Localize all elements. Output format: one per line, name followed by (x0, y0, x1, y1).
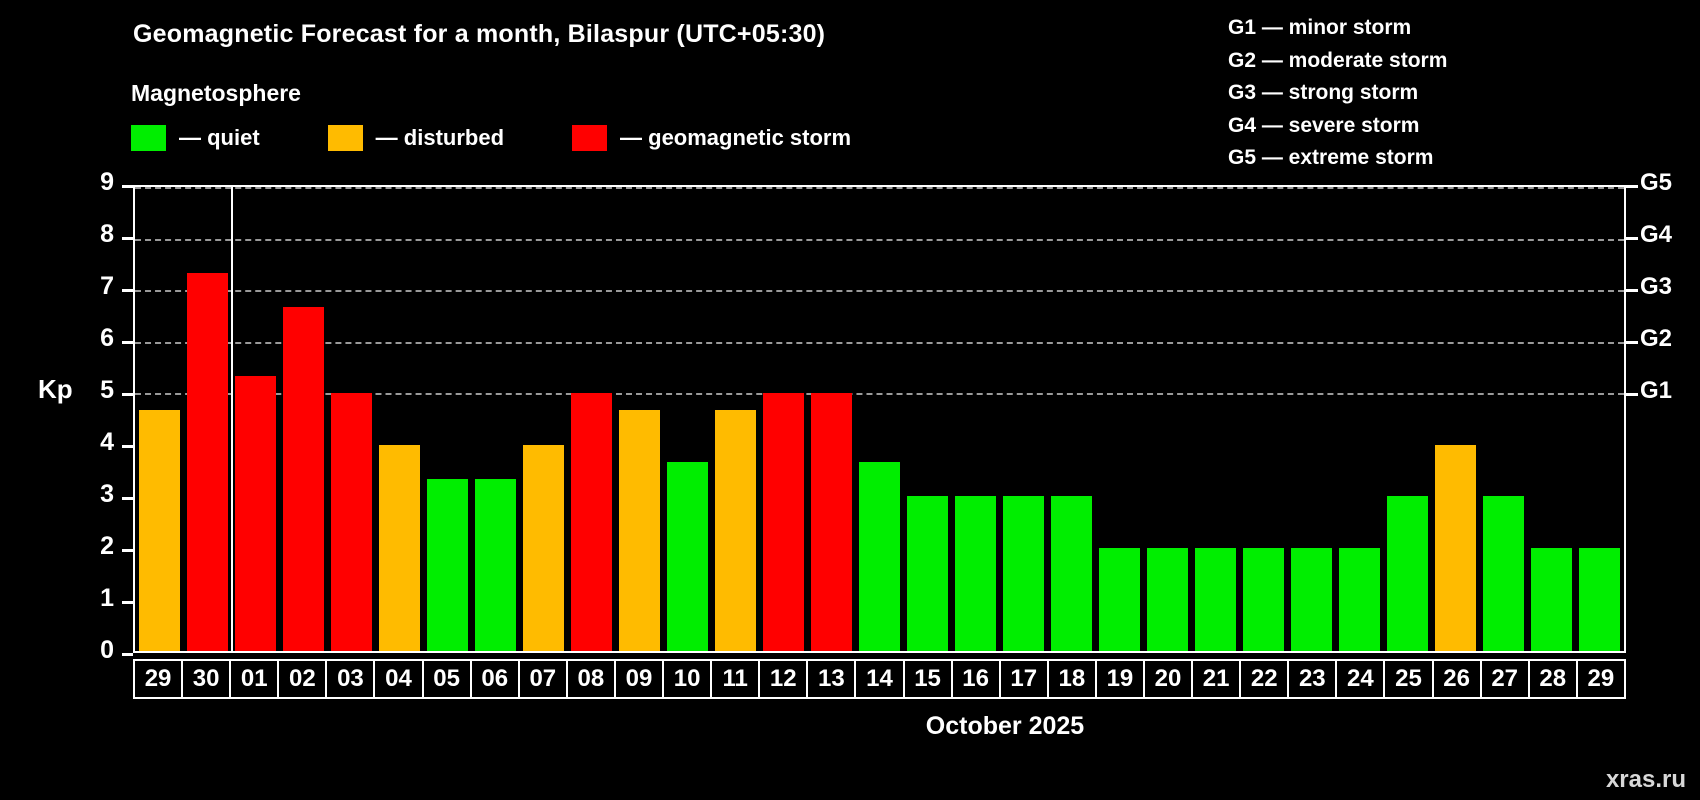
bar-cell (1432, 187, 1480, 651)
x-tick-label-03: 03 (325, 659, 375, 699)
x-tick-label-21: 21 (1191, 659, 1241, 699)
storm-scale-g2: G2 — moderate storm (1228, 45, 1447, 78)
bar-cell (231, 187, 279, 651)
bar-22 (1243, 548, 1284, 651)
bar-20 (1147, 548, 1188, 651)
bar-cell (567, 187, 615, 651)
bar-cell (759, 187, 807, 651)
bar-03 (331, 393, 372, 651)
y-tick-label-5: 5 (72, 376, 114, 405)
storm-scale-g5: G5 — extreme storm (1228, 142, 1447, 175)
g-label-G5: G5 (1640, 169, 1672, 197)
bar-cell (1528, 187, 1576, 651)
x-tick-label-13: 13 (806, 659, 856, 699)
x-tick-label-02: 02 (277, 659, 327, 699)
bar-cell (904, 187, 952, 651)
x-tick-label-15: 15 (903, 659, 953, 699)
g-tick-G3 (1626, 289, 1638, 292)
bar-cell (1240, 187, 1288, 651)
bar-21 (1195, 548, 1236, 651)
y-tick-label-6: 6 (72, 324, 114, 353)
chart-plot-area (133, 185, 1626, 653)
bar-cell (135, 187, 183, 651)
legend-item-storm: — geomagnetic storm (572, 125, 851, 151)
g-label-G3: G3 (1640, 273, 1672, 301)
bar-13 (811, 393, 852, 651)
bar-23 (1291, 548, 1332, 651)
g-tick-G2 (1626, 341, 1638, 344)
x-tick-label-30: 30 (181, 659, 231, 699)
x-tick-label-01: 01 (229, 659, 279, 699)
x-tick-label-10: 10 (662, 659, 712, 699)
bar-cell (615, 187, 663, 651)
x-tick-label-29: 29 (1576, 659, 1626, 699)
legend-item-disturbed: — disturbed (328, 125, 504, 151)
x-tick-label-07: 07 (518, 659, 568, 699)
storm-scale-legend: G1 — minor storm G2 — moderate storm G3 … (1228, 12, 1447, 175)
bar-04 (379, 445, 420, 651)
y-tick-label-2: 2 (72, 532, 114, 561)
legend: — quiet — disturbed — geomagnetic storm (131, 125, 851, 151)
storm-scale-g1: G1 — minor storm (1228, 12, 1447, 45)
watermark: xras.ru (1606, 766, 1686, 794)
x-tick-label-24: 24 (1335, 659, 1385, 699)
y-tick-label-4: 4 (72, 428, 114, 457)
bar-07 (523, 445, 564, 651)
x-tick-label-14: 14 (854, 659, 904, 699)
bar-cell (1048, 187, 1096, 651)
forecast-divider (231, 187, 233, 651)
bar-cell (952, 187, 1000, 651)
x-tick-label-17: 17 (999, 659, 1049, 699)
y-tick-label-8: 8 (72, 220, 114, 249)
g-tick-G4 (1626, 237, 1638, 240)
bar-cell (807, 187, 855, 651)
x-tick-label-11: 11 (710, 659, 760, 699)
bar-cell (855, 187, 903, 651)
y-axis-label: Kp (38, 374, 73, 405)
bar-25 (1387, 496, 1428, 651)
bar-cell (1336, 187, 1384, 651)
bar-series (135, 187, 1624, 651)
x-axis-title: October 2025 (0, 712, 1700, 741)
legend-label-disturbed: — disturbed (376, 125, 504, 151)
bar-cell (1288, 187, 1336, 651)
bar-06 (475, 479, 516, 651)
y-tick-7 (122, 289, 133, 292)
legend-label-storm: — geomagnetic storm (620, 125, 851, 151)
x-tick-label-27: 27 (1480, 659, 1530, 699)
y-tick-6 (122, 341, 133, 344)
g-label-G2: G2 (1640, 325, 1672, 353)
y-tick-label-1: 1 (72, 584, 114, 613)
x-tick-label-04: 04 (373, 659, 423, 699)
bar-cell (1192, 187, 1240, 651)
x-tick-label-22: 22 (1239, 659, 1289, 699)
x-tick-label-08: 08 (566, 659, 616, 699)
x-tick-label-05: 05 (422, 659, 472, 699)
bar-cell (519, 187, 567, 651)
bar-02 (283, 307, 324, 651)
bar-08 (571, 393, 612, 651)
y-tick-8 (122, 237, 133, 240)
bar-12 (763, 393, 804, 651)
x-tick-label-16: 16 (951, 659, 1001, 699)
x-tick-label-18: 18 (1047, 659, 1097, 699)
bar-26 (1435, 445, 1476, 651)
y-tick-2 (122, 549, 133, 552)
bar-18 (1051, 496, 1092, 651)
bar-cell (663, 187, 711, 651)
bar-01 (235, 376, 276, 651)
bar-cell (711, 187, 759, 651)
x-axis-labels: 2930010203040506070809101112131415161718… (133, 659, 1626, 699)
x-tick-label-20: 20 (1143, 659, 1193, 699)
y-tick-1 (122, 601, 133, 604)
bar-09 (619, 410, 660, 651)
bar-cell (279, 187, 327, 651)
page-title: Geomagnetic Forecast for a month, Bilasp… (133, 20, 825, 49)
y-tick-3 (122, 497, 133, 500)
y-tick-label-7: 7 (72, 272, 114, 301)
y-tick-0 (122, 653, 133, 656)
g-label-G1: G1 (1640, 377, 1672, 405)
bar-30 (187, 273, 228, 651)
storm-scale-g3: G3 — strong storm (1228, 77, 1447, 110)
legend-swatch-disturbed (328, 125, 363, 151)
bar-29 (139, 410, 180, 651)
bar-cell (1000, 187, 1048, 651)
x-tick-label-23: 23 (1287, 659, 1337, 699)
legend-swatch-quiet (131, 125, 166, 151)
legend-heading: Magnetosphere (131, 80, 301, 107)
storm-scale-g4: G4 — severe storm (1228, 110, 1447, 143)
bar-10 (667, 462, 708, 651)
bar-cell (1096, 187, 1144, 651)
g-label-G4: G4 (1640, 221, 1672, 249)
legend-item-quiet: — quiet (131, 125, 260, 151)
bar-cell (471, 187, 519, 651)
y-tick-9 (122, 185, 133, 188)
bar-27 (1483, 496, 1524, 651)
bar-cell (1384, 187, 1432, 651)
x-axis-title-text: October 2025 (616, 712, 1084, 740)
bar-24 (1339, 548, 1380, 651)
bar-17 (1003, 496, 1044, 651)
bar-cell (1144, 187, 1192, 651)
bar-16 (955, 496, 996, 651)
bar-29 (1579, 548, 1620, 651)
y-tick-label-9: 9 (72, 168, 114, 197)
bar-15 (907, 496, 948, 651)
bar-cell (327, 187, 375, 651)
g-tick-G1 (1626, 393, 1638, 396)
bar-05 (427, 479, 468, 651)
legend-label-quiet: — quiet (179, 125, 260, 151)
bar-cell (1576, 187, 1624, 651)
x-tick-label-09: 09 (614, 659, 664, 699)
bar-11 (715, 410, 756, 651)
x-tick-label-25: 25 (1383, 659, 1433, 699)
bar-14 (859, 462, 900, 651)
x-tick-label-28: 28 (1528, 659, 1578, 699)
bar-cell (1480, 187, 1528, 651)
bar-28 (1531, 548, 1572, 651)
y-tick-label-0: 0 (72, 636, 114, 665)
x-tick-label-26: 26 (1432, 659, 1482, 699)
bar-cell (423, 187, 471, 651)
y-tick-label-3: 3 (72, 480, 114, 509)
bar-19 (1099, 548, 1140, 651)
x-tick-label-29: 29 (133, 659, 183, 699)
bar-cell (183, 187, 231, 651)
y-tick-4 (122, 445, 133, 448)
x-tick-label-12: 12 (758, 659, 808, 699)
y-tick-5 (122, 393, 133, 396)
bar-cell (375, 187, 423, 651)
x-tick-label-19: 19 (1095, 659, 1145, 699)
x-tick-label-06: 06 (470, 659, 520, 699)
legend-swatch-storm (572, 125, 607, 151)
g-tick-G5 (1626, 185, 1638, 188)
